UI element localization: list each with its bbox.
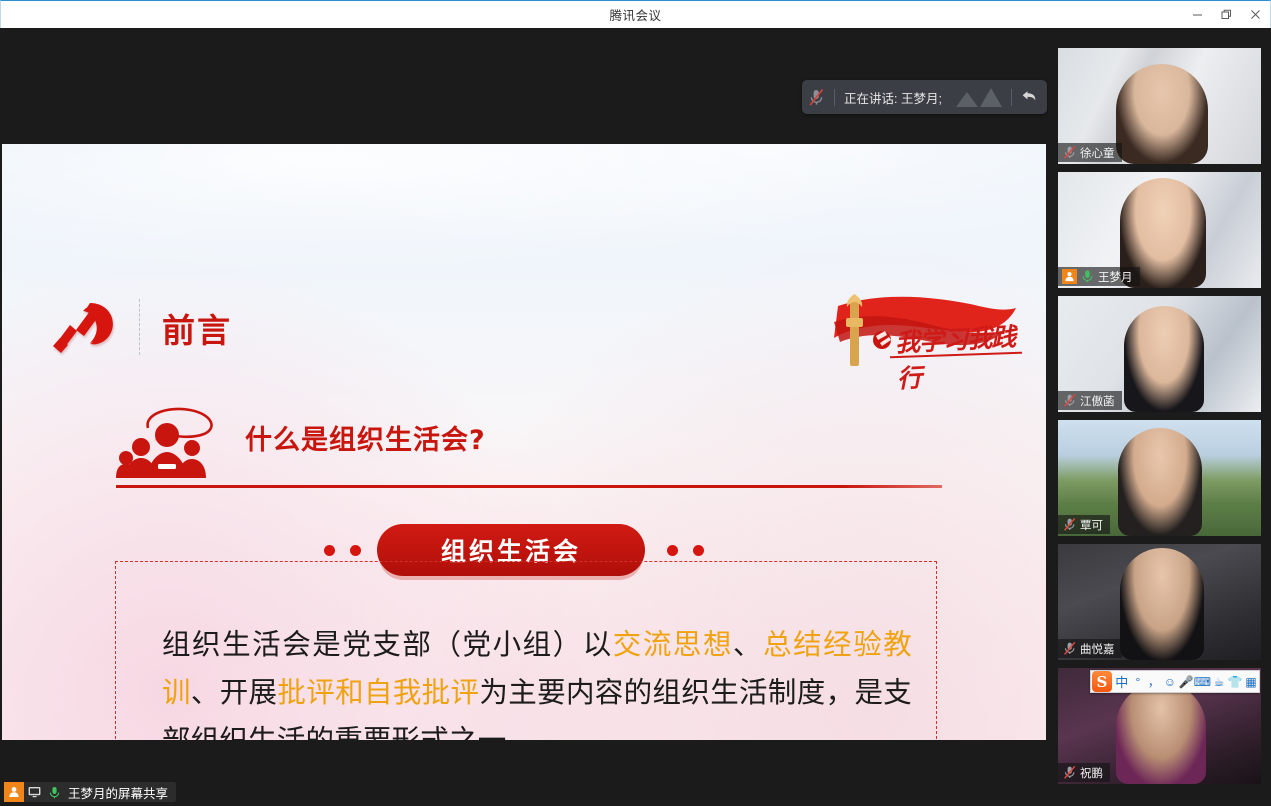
participant-tile[interactable]: 曲悦嘉 bbox=[1058, 544, 1261, 660]
emoji-icon[interactable]: ☺ bbox=[1162, 671, 1178, 692]
participant-name: 王梦月 bbox=[1098, 269, 1133, 285]
screen-share-icon bbox=[24, 782, 44, 802]
body-text-highlight: 交流思想 bbox=[613, 628, 733, 661]
participant-nameplate: 祝鹏 bbox=[1058, 763, 1110, 782]
participant-name: 覃可 bbox=[1080, 517, 1103, 533]
body-text: 组织生活会是党支部（党小组）以交流思想、总结经验教训、开展批评和自我批评为主要内… bbox=[162, 621, 912, 740]
window-title-bar: 腾讯会议 bbox=[0, 0, 1271, 28]
minimize-icon bbox=[1192, 9, 1203, 20]
participant-figure bbox=[1120, 548, 1204, 660]
body-text-plain: 、 bbox=[733, 628, 763, 661]
person-glyph bbox=[1064, 271, 1075, 282]
restore-icon bbox=[1221, 9, 1232, 20]
ime-toolbar[interactable]: S中°，☺🎤⌨☕👕▦ bbox=[1090, 670, 1260, 693]
mic-muted-icon bbox=[1062, 641, 1077, 656]
skin-icon[interactable]: 👕 bbox=[1227, 671, 1243, 692]
mic-muted-icon bbox=[1062, 765, 1077, 780]
party-emblem-icon bbox=[46, 294, 120, 360]
participant-nameplate: 王梦月 bbox=[1058, 267, 1140, 286]
close-icon bbox=[1250, 9, 1261, 20]
participant-nameplate: 覃可 bbox=[1058, 515, 1110, 534]
person-glyph bbox=[8, 786, 20, 798]
audio-wave-icon bbox=[956, 87, 1002, 107]
stage-bottom-bar: 王梦月的屏幕共享 bbox=[0, 778, 1048, 806]
decor-dot bbox=[324, 545, 335, 556]
meeting-window: 正在讲话: 王梦月; bbox=[0, 28, 1271, 806]
brand-logo: 我学习我践行 bbox=[820, 292, 1028, 372]
back-arrow-icon[interactable] bbox=[1021, 89, 1037, 106]
half-width-icon[interactable]: ° bbox=[1130, 671, 1146, 692]
mic-muted-glyph bbox=[1063, 517, 1077, 532]
decor-dot bbox=[667, 545, 678, 556]
decor-dot bbox=[350, 545, 361, 556]
participant-tile[interactable]: 王梦月 bbox=[1058, 172, 1261, 288]
participant-figure bbox=[1116, 682, 1206, 784]
mic-muted-glyph bbox=[1063, 145, 1077, 160]
window-title: 腾讯会议 bbox=[609, 5, 661, 24]
mic-active-glyph bbox=[1081, 269, 1094, 284]
participant-name: 江傲菡 bbox=[1080, 393, 1115, 409]
shared-screen-stage: 正在讲话: 王梦月; bbox=[0, 28, 1048, 806]
mic-muted-icon bbox=[1062, 517, 1077, 532]
mic-active-icon bbox=[44, 782, 64, 802]
participant-tile[interactable]: 祝鹏S中°，☺🎤⌨☕👕▦ bbox=[1058, 668, 1261, 784]
person-share-icon bbox=[4, 782, 24, 802]
mic-muted-icon bbox=[1062, 145, 1077, 160]
punctuation-icon[interactable]: ， bbox=[1146, 671, 1162, 692]
back-arrow-glyph bbox=[1021, 89, 1037, 103]
screen-share-label: 王梦月的屏幕共享 bbox=[64, 783, 176, 802]
user-icon[interactable]: ☕ bbox=[1211, 671, 1227, 692]
slide-title: 前言 bbox=[162, 304, 232, 352]
voice-input-icon[interactable]: 🎤 bbox=[1178, 671, 1194, 692]
window-controls bbox=[1183, 1, 1270, 28]
stage-top-strip: 正在讲话: 王梦月; bbox=[0, 28, 1048, 116]
header-divider bbox=[139, 299, 140, 355]
participant-nameplate: 曲悦嘉 bbox=[1058, 639, 1122, 658]
screen-glyph bbox=[28, 786, 41, 798]
mic-muted-icon bbox=[1062, 393, 1077, 408]
presentation-slide: 前言 我学习我践行 bbox=[2, 144, 1046, 740]
toolbox-icon[interactable]: ▦ bbox=[1243, 671, 1259, 692]
decor-dot bbox=[693, 545, 704, 556]
ime-language-mode[interactable]: 中 bbox=[1114, 671, 1130, 692]
mic-muted-glyph bbox=[1063, 641, 1077, 656]
participant-name: 曲悦嘉 bbox=[1080, 641, 1115, 657]
participant-tile[interactable]: 江傲菡 bbox=[1058, 296, 1261, 412]
restore-button[interactable] bbox=[1212, 1, 1241, 28]
sharing-badge-icon bbox=[1062, 269, 1077, 284]
mic-active-icon bbox=[1080, 269, 1095, 284]
mic-muted-glyph bbox=[1063, 765, 1077, 780]
body-text-plain: 组织生活会是党支部（党小组）以 bbox=[162, 628, 613, 661]
body-text-highlight: 批评和自我批评 bbox=[277, 676, 479, 709]
mic-glyph bbox=[49, 786, 60, 799]
soft-keyboard-icon[interactable]: ⌨ bbox=[1194, 671, 1211, 692]
people-speech-bubble-icon bbox=[116, 402, 244, 478]
participant-tile[interactable]: 徐心童 bbox=[1058, 48, 1261, 164]
participant-nameplate: 徐心童 bbox=[1058, 143, 1122, 162]
toolbar-divider-2 bbox=[1011, 89, 1012, 106]
question-heading: 什么是组织生活会? bbox=[245, 418, 486, 457]
screen-share-status[interactable]: 王梦月的屏幕共享 bbox=[4, 782, 176, 802]
participant-tile[interactable]: 覃可 bbox=[1058, 420, 1261, 536]
mic-status[interactable] bbox=[808, 80, 825, 114]
toolbar-divider-1 bbox=[834, 89, 835, 106]
participant-name: 徐心童 bbox=[1080, 145, 1115, 161]
participant-name: 祝鹏 bbox=[1080, 765, 1103, 781]
participant-figure bbox=[1118, 428, 1202, 536]
sogou-logo-icon[interactable]: S bbox=[1092, 671, 1112, 692]
participant-figure bbox=[1116, 64, 1208, 164]
participant-filmstrip[interactable]: 徐心童 王梦月 江傲菡 覃可 曲悦嘉 祝鹏S中°，☺🎤⌨☕👕▦ bbox=[1048, 28, 1271, 806]
speaking-indicator-toolbar[interactable]: 正在讲话: 王梦月; bbox=[802, 80, 1047, 114]
speaking-label: 正在讲话: 王梦月; bbox=[844, 88, 942, 107]
heading-rule bbox=[116, 485, 942, 488]
mic-muted-glyph bbox=[1063, 393, 1077, 408]
body-text-plain: 、开展 bbox=[191, 676, 278, 709]
participant-nameplate: 江傲菡 bbox=[1058, 391, 1122, 410]
participant-figure bbox=[1124, 306, 1204, 412]
close-button[interactable] bbox=[1241, 1, 1270, 28]
minimize-button[interactable] bbox=[1183, 1, 1212, 28]
mic-muted-icon bbox=[808, 88, 825, 107]
